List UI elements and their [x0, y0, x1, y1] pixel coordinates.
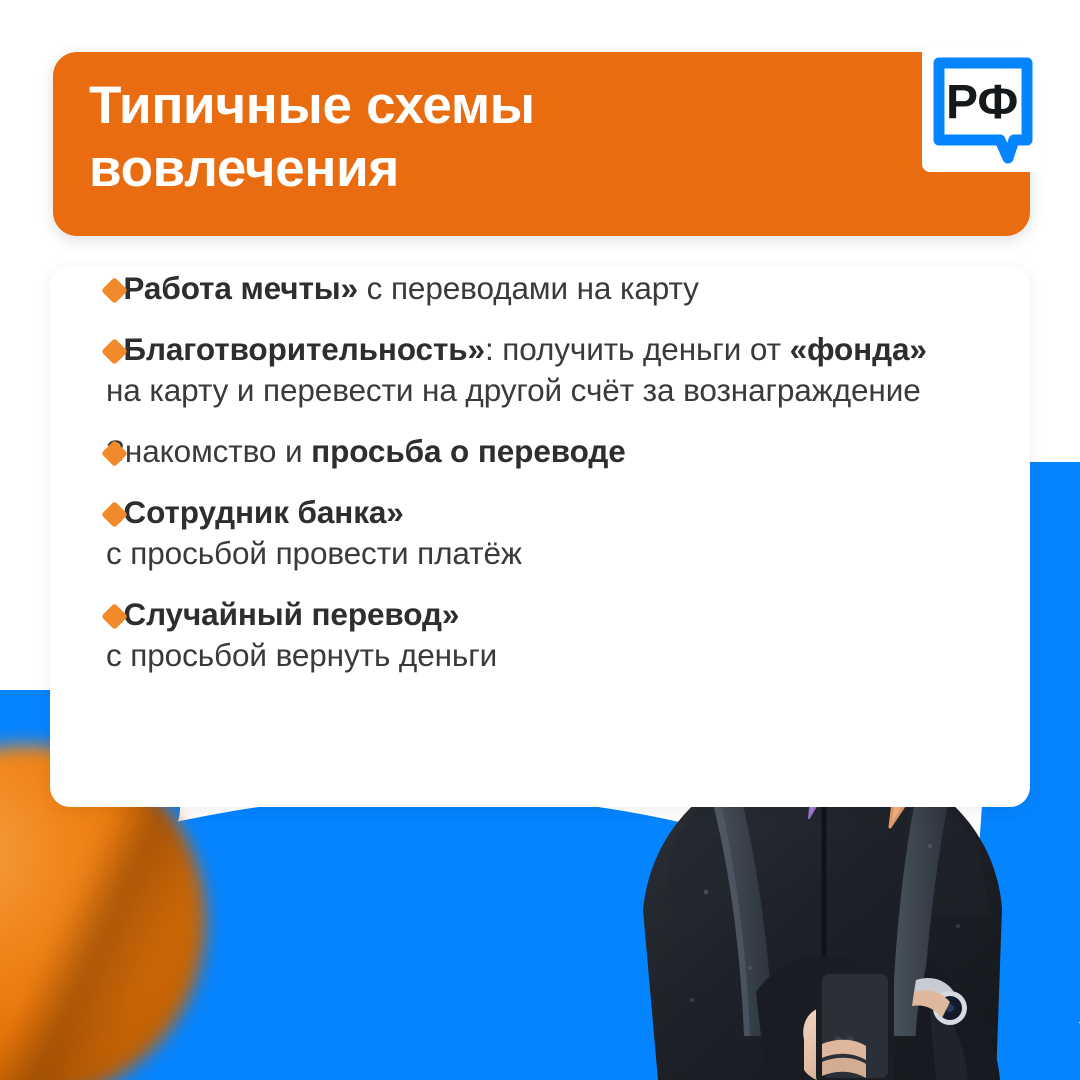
list-item-text: «Благотворительность»: получить деньги о… — [106, 329, 950, 411]
list-item-text: «Работа мечты» с переводами на карту — [106, 268, 699, 309]
poster-root: Типичные схемы вовлечения РФ «Работа меч… — [0, 0, 1080, 1080]
list-item: «Сотрудник банка»с просьбой провести пла… — [50, 492, 950, 574]
list-item-text: Знакомство и просьба о переводе — [106, 431, 626, 472]
list-item: «Случайный перевод»с просьбой вернуть де… — [50, 594, 950, 676]
list-item: «Работа мечты» с переводами на карту — [50, 268, 950, 309]
list-item: Знакомство и просьба о переводе — [50, 431, 950, 472]
rf-logo-letters: РФ — [946, 76, 1018, 129]
list-item-text: «Случайный перевод»с просьбой вернуть де… — [106, 594, 497, 676]
header-banner: Типичные схемы вовлечения — [53, 52, 1030, 236]
scheme-list: «Работа мечты» с переводами на карту «Бл… — [50, 268, 950, 676]
rf-logo: РФ — [922, 46, 1044, 172]
page-title: Типичные схемы вовлечения — [89, 74, 889, 200]
list-item-text: «Сотрудник банка»с просьбой провести пла… — [106, 492, 522, 574]
list-item: «Благотворительность»: получить деньги о… — [50, 329, 950, 411]
